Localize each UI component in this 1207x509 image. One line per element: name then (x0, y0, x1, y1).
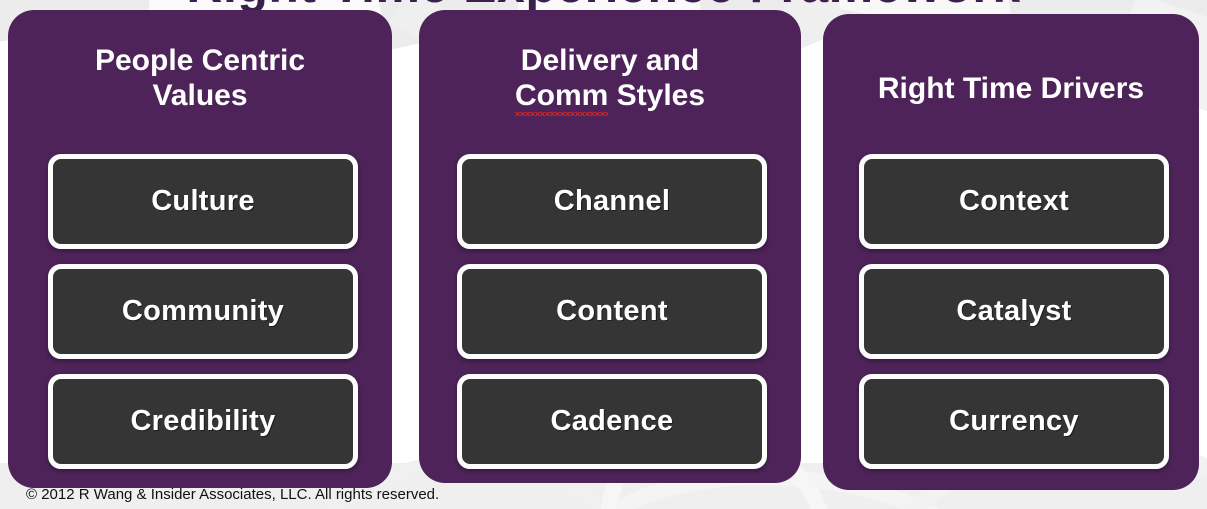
framework-item-label: Cadence (551, 405, 674, 438)
copyright-footer: © 2012 R Wang & Insider Associates, LLC.… (26, 486, 439, 503)
framework-item-label: Channel (554, 185, 671, 218)
column-title-line-1: Right Time Drivers (878, 72, 1144, 105)
framework-item-box[interactable]: Community (48, 264, 358, 359)
column-people-centric-values: People Centric Values Culture Community … (8, 10, 392, 488)
framework-item-box[interactable]: Context (859, 154, 1169, 249)
column-title: People Centric Values (8, 43, 392, 114)
column-title-line-2: Values (152, 79, 247, 112)
framework-item-box[interactable]: Content (457, 264, 767, 359)
column-delivery-and-comm-styles: Delivery andComm Styles Channel Content … (419, 10, 801, 483)
framework-item-label: Context (959, 185, 1069, 218)
column-title: Delivery andComm Styles (419, 43, 801, 114)
column-title: Right Time Drivers (823, 71, 1199, 106)
framework-item-label: Culture (151, 185, 255, 218)
column-title-line-1: People Centric (95, 44, 305, 77)
framework-item-box[interactable]: Credibility (48, 374, 358, 469)
framework-item-box[interactable]: Catalyst (859, 264, 1169, 359)
framework-item-label: Content (556, 295, 668, 328)
framework-item-box[interactable]: Culture (48, 154, 358, 249)
column-right-time-drivers: Right Time Drivers Context Catalyst Curr… (823, 14, 1199, 490)
spellcheck-underlined-word: Comm (515, 78, 608, 113)
framework-item-box[interactable]: Currency (859, 374, 1169, 469)
framework-item-label: Currency (949, 405, 1079, 438)
column-title-line-2-rest: Styles (608, 79, 705, 112)
framework-item-box[interactable]: Channel (457, 154, 767, 249)
framework-columns: People Centric Values Culture Community … (0, 0, 1207, 509)
framework-item-label: Catalyst (956, 295, 1071, 328)
framework-item-box[interactable]: Cadence (457, 374, 767, 469)
framework-item-label: Community (122, 295, 284, 328)
column-title-line-1: Delivery and (521, 44, 699, 77)
framework-item-label: Credibility (130, 405, 275, 438)
